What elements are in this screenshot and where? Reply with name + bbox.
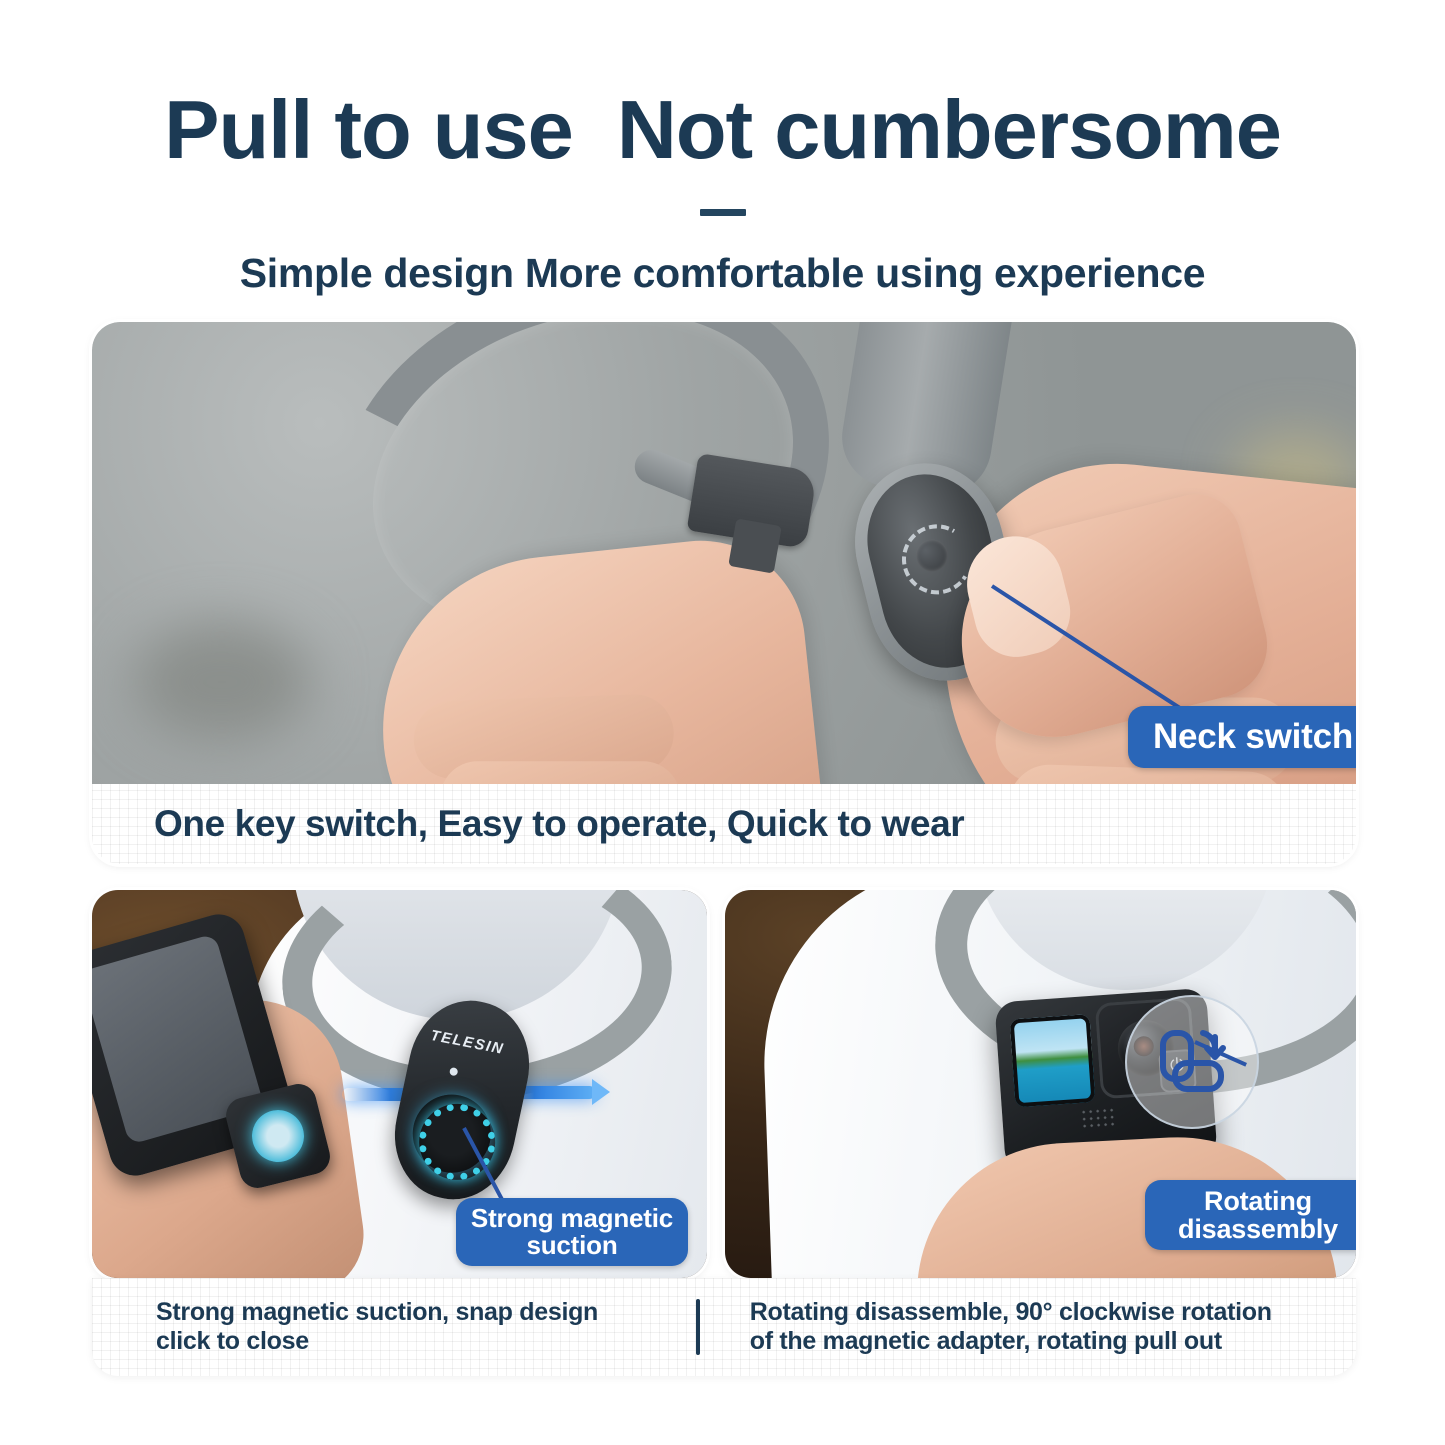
wall-blotch <box>132 622 312 742</box>
page-title: Pull to use Not cumbersome <box>0 88 1445 171</box>
panel-rotating: Rotating disassembly <box>725 890 1356 1278</box>
panel-magnetic-photo: TELESIN Strong magnetic suction <box>92 890 707 1278</box>
badge-strong-magnetic-suction: Strong magnetic suction <box>456 1198 688 1266</box>
badge-rotating-disassembly: Rotating disassembly <box>1145 1180 1356 1250</box>
hero-caption-text: One key switch, Easy to operate, Quick t… <box>154 803 964 845</box>
page-subtitle: Simple design More comfortable using exp… <box>0 250 1445 297</box>
caption-magnetic-line-2: click to close <box>156 1327 696 1357</box>
hero-caption-bar: One key switch, Easy to operate, Quick t… <box>92 784 1356 864</box>
caption-magnetic-line-1: Strong magnetic suction, snap design <box>156 1298 696 1328</box>
badge-line-2: disassembly <box>1178 1215 1338 1243</box>
telesin-brand-logo: TELESIN <box>429 1027 519 1060</box>
badge-line-1: Strong magnetic <box>471 1205 673 1232</box>
hero-panel: Neck switch One key switch, Easy to oper… <box>92 322 1356 864</box>
panel-magnetic: TELESIN Strong magnetic suction <box>92 890 707 1278</box>
panel-rotating-photo: Rotating disassembly <box>725 890 1356 1278</box>
bottom-caption-bar: Strong magnetic suction, snap design cli… <box>92 1278 1356 1376</box>
caption-magnetic: Strong magnetic suction, snap design cli… <box>92 1298 696 1357</box>
hero-photo: Neck switch <box>92 322 1356 784</box>
badge-line-2: suction <box>526 1232 617 1259</box>
badge-neck-switch-label: Neck switch <box>1153 719 1353 756</box>
caption-rotating-line-2: of the magnetic adapter, rotating pull o… <box>750 1327 1356 1357</box>
status-led <box>449 1067 458 1076</box>
caption-rotating-line-1: Rotating disassemble, 90° clockwise rota… <box>750 1298 1356 1328</box>
title-divider <box>700 209 746 216</box>
camera-front-screen <box>1010 1014 1096 1107</box>
page-header: Pull to use Not cumbersome Simple design… <box>0 0 1445 297</box>
badge-neck-switch: Neck switch <box>1128 706 1356 768</box>
connector-prong <box>728 518 782 573</box>
finger <box>440 761 680 784</box>
caption-rotating: Rotating disassemble, 90° clockwise rota… <box>700 1298 1356 1357</box>
badge-line-1: Rotating <box>1204 1187 1312 1215</box>
camera-microphone-grille <box>1080 1107 1115 1131</box>
